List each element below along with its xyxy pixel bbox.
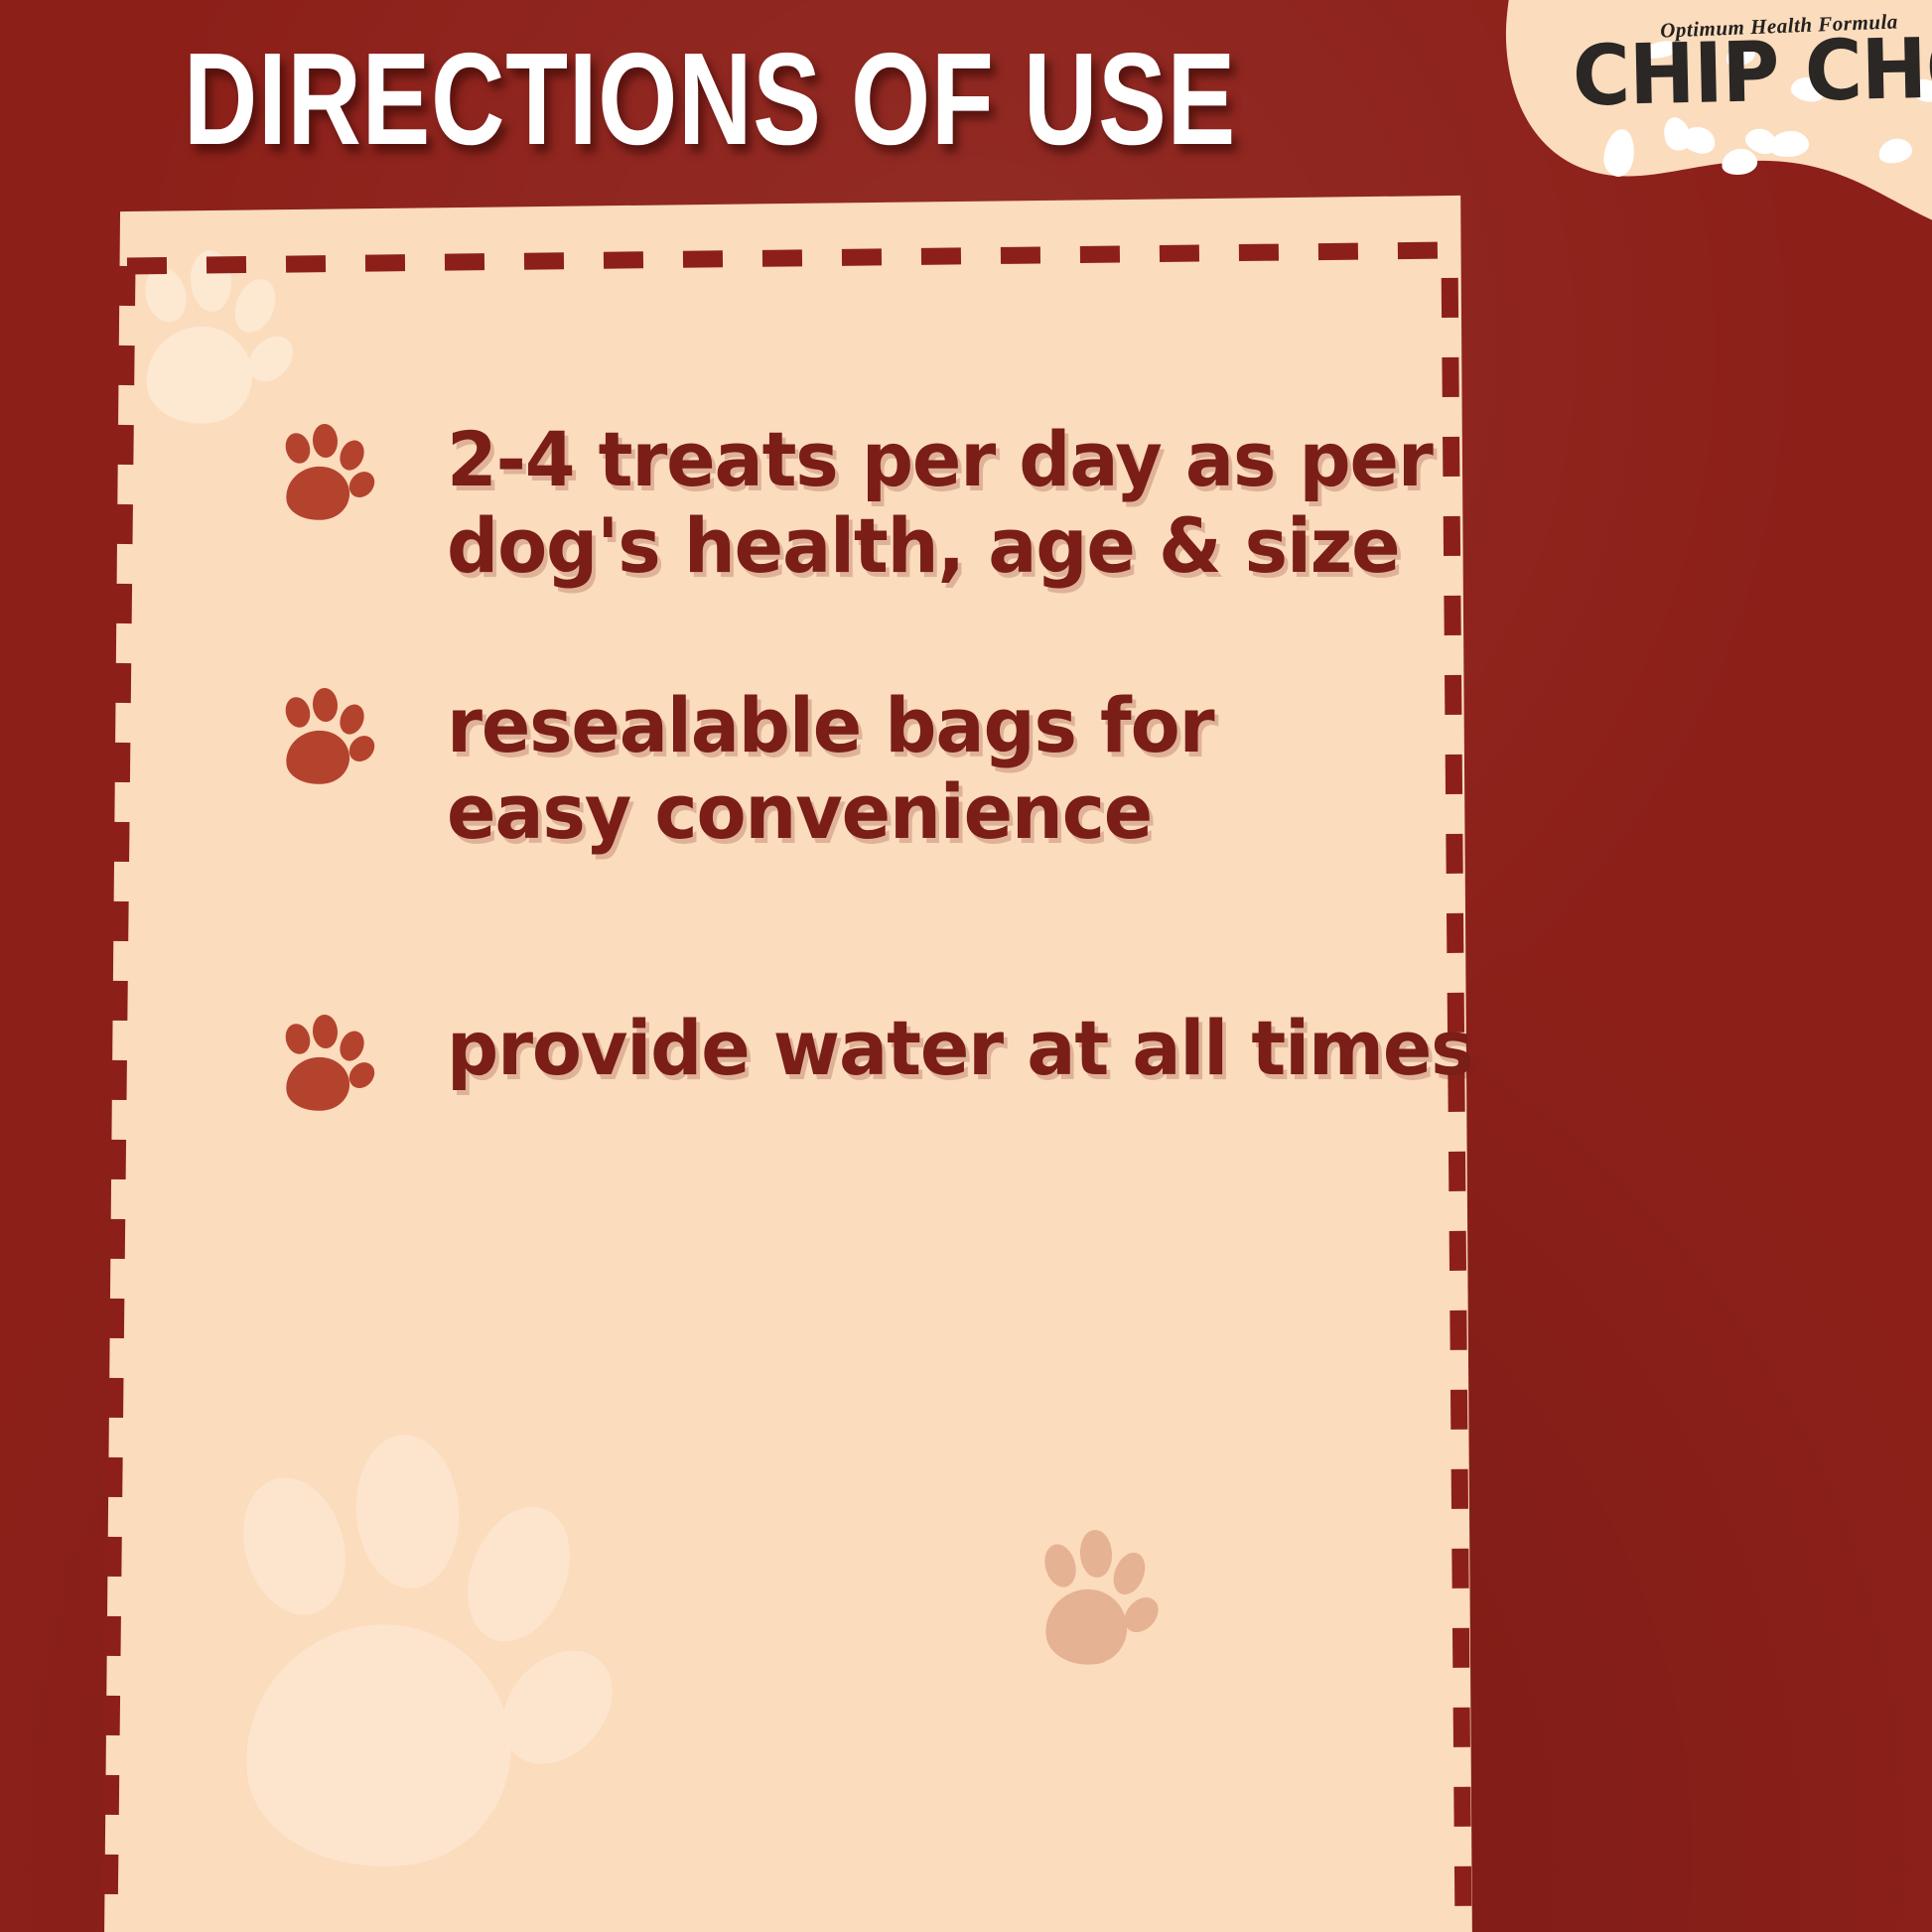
paw-toe-pad-4 xyxy=(344,731,379,766)
brand-logo[interactable]: Optimum Health Formula CHIP CHOPs xyxy=(1495,0,1932,244)
paw-toe-pad-3 xyxy=(227,273,283,339)
paw-main-pad xyxy=(284,463,353,523)
paw-toe-pad-2 xyxy=(312,1014,339,1049)
paw-toe-pad-2 xyxy=(312,423,339,459)
instruction-paper-sheet xyxy=(0,0,1932,1932)
paw-toe-pad-3 xyxy=(336,700,368,737)
paw-toe-pad-4 xyxy=(1674,1796,1722,1845)
paw-toe-pad-1 xyxy=(1040,1540,1081,1589)
paw-main-pad xyxy=(284,1053,353,1114)
paw-toe-pad-2 xyxy=(312,687,339,723)
instruction-item-2[interactable]: resealable bags for easy convenience xyxy=(282,683,1246,855)
paw-print-icon xyxy=(282,1014,385,1117)
paw-toe-pad-1 xyxy=(1519,906,1566,964)
paw-toe-pad-2 xyxy=(188,249,232,314)
logo-wordmark: CHIP CHOPs xyxy=(1572,28,1932,118)
instruction-text-2: resealable bags for easy convenience xyxy=(447,683,1213,855)
paw-toe-pad-3 xyxy=(1664,1753,1707,1804)
paw-toe-pad-1 xyxy=(228,1465,361,1627)
instruction-text-1: 2-4 treats per day as per dog's health, … xyxy=(447,417,1433,589)
paw-toe-pad-2 xyxy=(1563,894,1602,951)
paw-toe-pad-2 xyxy=(1634,1733,1669,1783)
watermark-paw-icon-large-bottom-left xyxy=(228,1430,655,1896)
paw-main-pad xyxy=(284,727,353,787)
paw-toe-pad-3 xyxy=(449,1492,589,1657)
paw-toe-pad-3 xyxy=(336,436,368,473)
paw-print-icon xyxy=(282,687,385,790)
logo-wordmark-main: CHIP CHOP xyxy=(1572,18,1932,125)
page-title: DIRECTIONS OF USE xyxy=(156,34,1263,165)
paw-toe-pad-1 xyxy=(1596,1744,1637,1794)
paw-toe-pad-3 xyxy=(336,1027,368,1063)
paw-main-pad xyxy=(233,1612,522,1881)
paw-toe-pad-2 xyxy=(1078,1529,1113,1579)
poster-canvas: 2-4 treats per day as per dog's health, … xyxy=(0,0,1932,1932)
watermark-paw-icon-top-left xyxy=(139,248,310,435)
paw-toe-pad-3 xyxy=(1108,1549,1151,1599)
paw-toe-pad-3 xyxy=(1694,371,1743,430)
paw-main-pad xyxy=(1618,415,1721,511)
paw-toe-pad-1 xyxy=(282,695,314,732)
instruction-item-1[interactable]: 2-4 treats per day as per dog's health, … xyxy=(282,417,1473,589)
paw-main-pad xyxy=(1521,959,1623,1055)
paw-toe-pad-4 xyxy=(344,467,379,502)
decor-paw-icon-bottom-right xyxy=(1596,1733,1727,1878)
paw-toe-pad-4 xyxy=(344,1057,379,1093)
paw-toe-pad-4 xyxy=(1118,1591,1166,1640)
paw-main-pad xyxy=(141,322,256,429)
paw-toe-pad-1 xyxy=(139,262,193,327)
paw-toe-pad-2 xyxy=(351,1431,465,1591)
paw-main-pad xyxy=(1042,1586,1131,1669)
watermark-paw-icon-mid-right xyxy=(1519,894,1670,1060)
decor-paw-icon-top-right xyxy=(1616,349,1767,516)
instruction-item-3[interactable]: provide water at all times xyxy=(282,1006,1515,1117)
paw-toe-pad-4 xyxy=(480,1629,633,1786)
paw-toe-pad-2 xyxy=(1660,349,1700,407)
paper-inner-surface xyxy=(0,0,1932,1932)
paw-toe-pad-4 xyxy=(239,328,301,390)
instruction-text-3: provide water at all times xyxy=(447,1006,1472,1092)
paw-toe-pad-3 xyxy=(1596,915,1646,974)
paw-print-icon xyxy=(282,423,385,526)
paw-toe-pad-1 xyxy=(282,1022,314,1058)
decor-paw-icon-bottom-center xyxy=(1040,1529,1172,1674)
paw-main-pad xyxy=(1598,1790,1687,1873)
paw-toe-pad-1 xyxy=(1616,362,1663,420)
paw-toe-pad-1 xyxy=(282,431,314,468)
paw-toe-pad-4 xyxy=(1705,421,1759,477)
paw-toe-pad-4 xyxy=(1607,965,1662,1021)
